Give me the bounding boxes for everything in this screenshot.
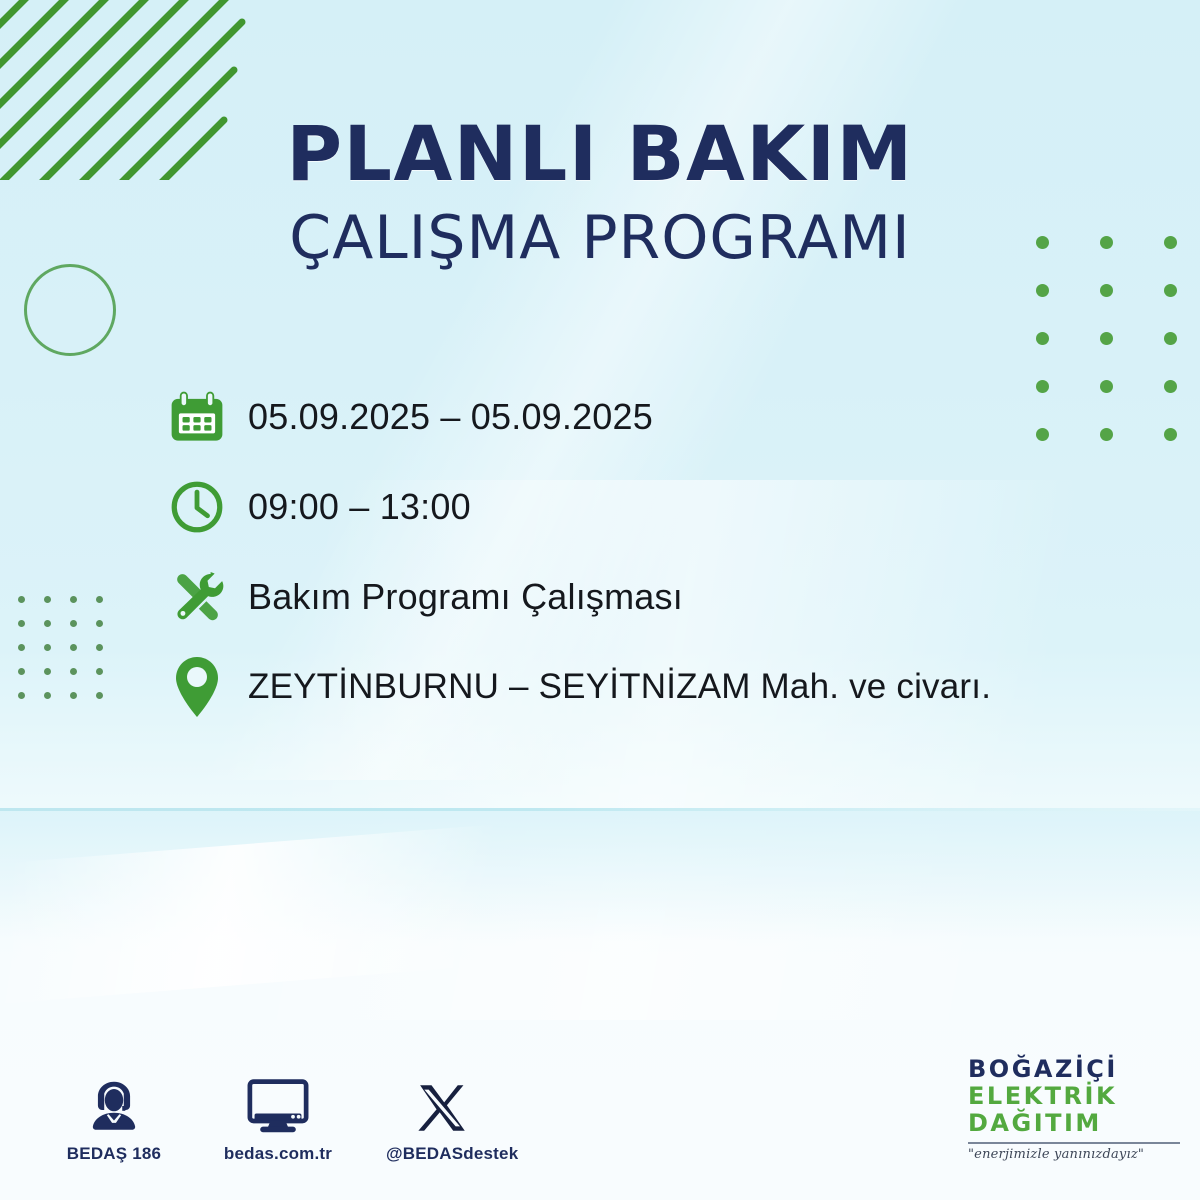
company-logo: BOĞAZİÇİ ELEKTRİK DAĞITIM "enerjimizle y… [968,1056,1180,1162]
clock-icon [160,470,234,544]
contact-channel-website[interactable]: bedas.com.tr [222,1062,334,1164]
contact-channel-phone[interactable]: BEDAŞ 186 [58,1062,170,1164]
contact-label-social: @BEDASdestek [386,1144,498,1164]
logo-line-dagitim: DAĞITIM [968,1110,1180,1137]
detail-row-location: ZEYTİNBURNU – SEYİTNİZAM Mah. ve civarı. [160,642,1140,732]
title-subtitle: ÇALIŞMA PROGRAMI [0,208,1200,268]
outage-details-list: 05.09.2025 – 05.09.2025 09:00 – 13:00 [160,372,1140,732]
background-horizon-line [0,808,1200,811]
poster-canvas: PLANLI BAKIM ÇALIŞMA PROGRAMI [0,0,1200,1200]
location-pin-icon [160,650,234,724]
calendar-icon [160,380,234,454]
logo-tagline: "enerjimizle yanınızdayız" [968,1147,1180,1162]
detail-value-location: ZEYTİNBURNU – SEYİTNİZAM Mah. ve civarı. [234,667,991,707]
tools-icon [160,560,234,634]
headset-support-icon [58,1062,170,1136]
background-wave-swoosh [0,812,664,1008]
detail-row-date: 05.09.2025 – 05.09.2025 [160,372,1140,462]
logo-line-bogazici: BOĞAZİÇİ [968,1056,1180,1083]
background-horizon-fade [0,811,1200,941]
detail-row-time: 09:00 – 13:00 [160,462,1140,552]
monitor-website-icon [222,1062,334,1136]
contact-channel-social[interactable]: @BEDASdestek [386,1062,498,1164]
contact-label-phone: BEDAŞ 186 [58,1144,170,1164]
contact-label-website: bedas.com.tr [222,1144,334,1164]
footer-contact-channels: BEDAŞ 186 bedas.com.tr [58,1062,498,1164]
title-main: PLANLI BAKIM [0,116,1200,192]
dot-grid-left-decoration [18,596,122,716]
detail-row-work: Bakım Programı Çalışması [160,552,1140,642]
logo-divider [968,1142,1180,1144]
page-title: PLANLI BAKIM ÇALIŞMA PROGRAMI [0,116,1200,268]
detail-value-time: 09:00 – 13:00 [234,486,471,528]
detail-value-date: 05.09.2025 – 05.09.2025 [234,396,653,438]
logo-line-elektrik: ELEKTRİK [968,1083,1180,1110]
detail-value-work: Bakım Programı Çalışması [234,576,683,618]
x-social-icon [386,1062,498,1136]
circle-outline-decoration [24,264,116,356]
